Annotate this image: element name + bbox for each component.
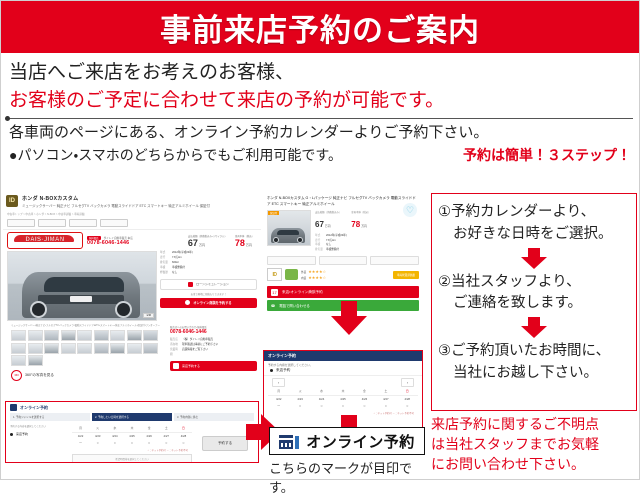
detail-chip-row[interactable] xyxy=(263,253,423,265)
lead-text-block: 当店へご来店をお考えのお客様、 お客様のご予定に合わせて来店の予約が可能です。 xyxy=(1,53,639,114)
car-body-shape xyxy=(22,272,140,318)
arrow-head xyxy=(521,257,547,269)
page-title: 事前来店予約のご案内 xyxy=(160,5,480,50)
calendar-icon xyxy=(173,363,179,369)
calendar-dow: 日 xyxy=(175,425,192,431)
contact-note-line-1: 来店予約に関するご不明点 xyxy=(431,415,637,435)
visit-online-reservation-label: 来店・オンライン商談予約 xyxy=(282,290,323,295)
car-window-shape xyxy=(44,277,124,292)
thumbnail[interactable] xyxy=(44,343,59,354)
detail-photo-tag: 保証付 xyxy=(268,211,279,215)
arrow-down-icon xyxy=(521,317,547,339)
car-wheel-left xyxy=(30,301,47,318)
radio-dot-icon xyxy=(10,433,13,436)
mock-car-listing-page[interactable]: ID ホンダ N-BOXカスタム ミュージックサーバー 純正ナビ フルセグTV … xyxy=(3,193,261,393)
price-total-row: 67万円 xyxy=(188,238,227,248)
arrow-shaft xyxy=(341,301,357,317)
listing-lower-left: ミュージックサーバー・純正ナビ・フルセグTV・バックカメラ・電動スライドドア・E… xyxy=(7,321,165,383)
thumbnail[interactable] xyxy=(11,330,26,341)
spec-key: 修復歴 xyxy=(160,271,169,276)
visit-online-reservation-button[interactable]: 17 来店・オンライン商談予約 xyxy=(267,286,419,298)
calculator-icon xyxy=(188,282,193,287)
heart-icon[interactable]: ♡ xyxy=(403,203,417,217)
detail-price-body-row: 78万円 xyxy=(351,214,370,232)
shop-sign xyxy=(295,436,299,449)
calendar-slot[interactable]: － xyxy=(72,440,89,447)
car-wheel-left xyxy=(273,237,279,243)
radio-dot-icon xyxy=(270,369,273,372)
calendar-dow: 水 xyxy=(311,388,332,394)
side-tel-number[interactable]: 0078-6046-1446 xyxy=(170,329,257,335)
step-2-line-2: ご連絡を致します。 xyxy=(438,293,630,315)
calendar-date: 4/24 xyxy=(106,432,123,439)
detail-price-body-unit: 万円 xyxy=(361,224,367,228)
calendar-date-row: 4/22 4/23 4/24 4/25 4/26 4/27 4/28 xyxy=(268,395,418,402)
id-badge-text: ID xyxy=(273,272,277,278)
detail-price-total-value: 67 xyxy=(315,220,324,229)
shop-row: 営業時間店舗情報をご覧下さい xyxy=(170,348,257,358)
calendar-dow: 月 xyxy=(72,425,89,431)
online-reservation-button[interactable]: オンライン予約 xyxy=(269,427,425,455)
wizard-steps[interactable]: 1. 予約ジャンルを選択する 2. 予約したい日時を選択する 3. 予約内容に進… xyxy=(6,413,258,421)
wizard-mark-row[interactable]: － ○ ○ ○ ○ ○ ○ xyxy=(72,440,192,447)
calendar-slot[interactable]: ○ xyxy=(175,440,192,447)
three-steps-tagline: 予約は簡単！３ステップ！ xyxy=(463,145,631,166)
chip-purchase-pack[interactable] xyxy=(370,256,419,265)
loan-simulation-label: ローンシミュレーション xyxy=(196,282,229,286)
calendar-slot[interactable]: － xyxy=(268,403,289,410)
lead-line-1: 当店へご来店をお考えのお客様、 xyxy=(9,59,631,87)
wizard-note: 予約する内容を選択してください xyxy=(10,424,68,428)
thumbnail[interactable] xyxy=(94,330,109,341)
green-badge-icon xyxy=(285,269,298,280)
online-reservation-caption: こちらのマークが目印です。 xyxy=(269,458,425,496)
step-3: ③ご予約頂いたお時間に、 当社にお越し下さい。 xyxy=(438,341,630,385)
breadcrumb[interactable]: 中古車トップ > 中古車 > ホンダ > N-BOX > 中古車詳細 > 車両詳… xyxy=(3,211,261,219)
arrow-head xyxy=(521,326,547,338)
step-1-line-1: ①予約カレンダーより、 xyxy=(438,204,595,220)
side-shop-info: 販売店（株）ダイレイ自動車販売 所在地現車確認は事前にご予約下さい 営業時間店舗… xyxy=(170,338,257,358)
wizard-time-select[interactable]: 希望時間帯を選択してください xyxy=(72,454,192,463)
rating-outside-stars: ★★★★☆ xyxy=(308,269,326,274)
lead-row-4: ●パソコン・スマホのどちらからでもご利用可能です。 予約は簡単！３ステップ！ xyxy=(1,145,639,166)
chip-coupon[interactable] xyxy=(319,256,368,265)
detail-price-total-row: 67万円 xyxy=(315,214,341,232)
rating-inside-label: 内装 xyxy=(301,277,306,280)
contact-note-line-2: は当社スタッフまでお気軽 xyxy=(431,435,637,455)
calendar-dow: 木 xyxy=(123,425,140,431)
rating-inside-stars: ★★★★☆ xyxy=(308,275,326,280)
detail-spec-row: 排気量車検整備付 xyxy=(315,248,419,253)
dealer-strip: DAIS-JIMAN 無料電話 ダイレイ自動車販売 本店 0078-6046-1… xyxy=(3,229,261,251)
detail-info: 支払総額（消費税込み） 67万円 車両本体（税込） 78万円 xyxy=(315,210,419,253)
car-plate-shape xyxy=(70,296,92,302)
calendar-dow: 水 xyxy=(106,425,123,431)
rating-stars-block: 外装★★★★☆ 内装★★★★☆ xyxy=(301,269,326,280)
lead-line-2: お客様のご予定に合わせて来店の予約が可能です。 xyxy=(9,87,631,115)
listing-main: 1/46 年式2012年(平成24年) 走行7.8万km 排気量660cc 車検… xyxy=(3,251,261,321)
thumbnail[interactable] xyxy=(143,343,158,354)
view-360-label: 360°の写真を見る xyxy=(25,373,54,378)
wizard-header: オンライン予約 xyxy=(6,402,258,413)
detail-specs: 年式2012年(平成24年) 走行7.8万km 車検なし 排気量車検整備付 xyxy=(315,234,419,253)
listing-side-panel: 販売店へのお問い合わせ・無料電話 0078-6046-1446 販売店（株）ダイ… xyxy=(168,321,257,383)
dealer-tel-number[interactable]: 0078-6046-1446 xyxy=(87,240,184,246)
calendar-dow: 月 xyxy=(268,388,289,394)
listing-title: ホンダ N-BOXカスタム xyxy=(22,195,258,202)
price-total-block: 支払総額（消費税込み・リサイクル） 67万円 xyxy=(188,234,227,248)
wizard-title: オンライン予約 xyxy=(20,405,48,411)
rating-outside-label: 外装 xyxy=(301,271,306,274)
listing-tabs[interactable] xyxy=(3,219,261,229)
calendar-bar-title: オンライン予約 xyxy=(264,351,422,361)
wizard-calendar[interactable]: 月 火 水 木 金 土 日 4/22 4/23 4/24 4/25 4/26 xyxy=(72,424,192,463)
detail-rating-row: ID 外装★★★★☆ 内装★★★★☆ 車両状態評価書 xyxy=(263,265,423,284)
shop-window xyxy=(281,443,284,447)
detail-summary-row: 保証付 支払総額（消費税込み） 67万円 xyxy=(263,210,423,253)
calendar-slot[interactable]: ○ xyxy=(141,440,158,447)
detail-spec-key: 排気量 xyxy=(315,248,323,253)
step-1: ①予約カレンダーより、 お好きな日時をご選択。 xyxy=(438,202,630,246)
calendar-slot[interactable]: ○ xyxy=(123,440,140,447)
thumbnail[interactable] xyxy=(28,343,43,354)
thumbnail[interactable] xyxy=(61,330,76,341)
car-body-shape xyxy=(271,228,305,243)
car-wheel-right xyxy=(115,301,132,318)
calendar-date: 4/28 xyxy=(397,395,418,402)
calendar-date: 4/26 xyxy=(141,432,158,439)
calendar-date: 4/26 xyxy=(354,395,375,402)
photo-counter: 1/46 xyxy=(143,313,154,318)
condition-report-button[interactable]: 車両状態評価書 xyxy=(393,271,419,279)
thumbnail[interactable] xyxy=(77,343,92,354)
wizard-submit-button[interactable]: 予約する xyxy=(202,436,248,451)
wizard-option-visit[interactable]: 来店予約 xyxy=(10,432,68,436)
calendar-date: 4/22 xyxy=(72,432,89,439)
thumbnail[interactable] xyxy=(61,343,76,354)
section-divider xyxy=(7,118,633,119)
view-360-link[interactable]: 360 360°の写真を見る xyxy=(7,368,165,383)
arrow-down-icon xyxy=(521,248,547,270)
calendar-dow: 日 xyxy=(397,388,418,394)
tab-photos[interactable] xyxy=(7,219,35,227)
shop-window xyxy=(285,443,288,447)
tab-equipment[interactable] xyxy=(69,219,97,227)
chip-warranty-pack[interactable] xyxy=(267,256,316,265)
page-header: 事前来店予約のご案内 xyxy=(1,1,639,53)
lead-line-3: 各車両のページにある、オンライン予約カレンダーよりご予約下さい。 xyxy=(1,122,639,145)
chevron-left-icon[interactable]: ‹ xyxy=(272,378,285,387)
calendar-date: 4/24 xyxy=(311,395,332,402)
calendar-date: 4/27 xyxy=(375,395,396,402)
detail-title: ホンダ N-BOXカスタム G・Lパッケージ 純正ナビ フルセグTV バックカメ… xyxy=(263,193,423,210)
thumbnail[interactable] xyxy=(28,355,43,366)
online-reservation-label: オンライン予約 xyxy=(306,431,415,452)
thumbnail[interactable] xyxy=(11,343,26,354)
calendar-dow: 土 xyxy=(158,425,175,431)
price-body-row: 78万円 xyxy=(235,238,254,248)
mock-reservation-wizard[interactable]: オンライン予約 1. 予約ジャンルを選択する 2. 予約したい日時を選択する 3… xyxy=(5,401,259,463)
wizard-legend: ○：ネット予約可 －：ネット予約不可 xyxy=(72,447,192,452)
wizard-step-3[interactable]: 3. 予約内容に進む xyxy=(174,413,254,421)
calendar-slot[interactable]: ○ xyxy=(289,403,310,410)
calendar-date: 4/25 xyxy=(123,432,140,439)
calendar-slot[interactable]: ○ xyxy=(158,440,175,447)
wizard-step-2[interactable]: 2. 予約したい日時を選択する xyxy=(92,413,172,421)
listing-header: ID ホンダ N-BOXカスタム ミュージックサーバー 純正ナビ フルセグTV … xyxy=(3,193,261,211)
wizard-step-1[interactable]: 1. 予約ジャンルを選択する xyxy=(10,413,90,421)
calendar-radio-label: 来店予約 xyxy=(276,368,290,373)
step-3-line-1: ③ご予約頂いたお時間に、 xyxy=(438,343,610,359)
rotate-360-icon: 360 xyxy=(11,370,22,381)
detail-vehicle-photo[interactable]: 保証付 xyxy=(267,210,311,246)
thumbnail[interactable] xyxy=(11,355,26,366)
calendar-widget[interactable]: ‹ › 月 火 水 木 金 土 日 4/22 4/23 4/24 4/25 xyxy=(264,375,422,417)
thumbnail[interactable] xyxy=(77,330,92,341)
calendar-dow: 火 xyxy=(89,425,106,431)
price-body-value: 78 xyxy=(235,238,245,248)
calendar-radio-visit[interactable]: 来店予約 xyxy=(264,368,422,375)
wizard-body: 予約する内容を選択してください 来店予約 月 火 水 木 金 土 日 xyxy=(6,421,258,463)
calendar-date: 4/28 xyxy=(175,432,192,439)
online-negotiation-button[interactable]: オンライン商談を予約する xyxy=(160,298,257,308)
thumbnail[interactable] xyxy=(127,330,142,341)
listing-lower: ミュージックサーバー・純正ナビ・フルセグTV・バックカメラ・電動スライドドア・E… xyxy=(3,321,261,383)
side-tel-block: 販売店へのお問い合わせ・無料電話 0078-6046-1446 xyxy=(170,325,257,335)
dealer-logo-text: DAIS-JIMAN xyxy=(25,237,64,243)
car-window-shape xyxy=(277,230,299,235)
dealer-logo: DAIS-JIMAN xyxy=(7,232,83,249)
id-badge-icon: ID xyxy=(267,268,282,281)
arrow-down-icon xyxy=(331,301,367,335)
price-total-unit: 万円 xyxy=(199,243,205,247)
rating-inside: 内装★★★★☆ xyxy=(301,275,326,281)
calendar-date: 4/23 xyxy=(89,432,106,439)
calendar-slot[interactable]: ○ xyxy=(375,403,396,410)
listing-title-block: ホンダ N-BOXカスタム ミュージックサーバー 純正ナビ フルセグTV バック… xyxy=(22,195,258,209)
calendar-date: 4/25 xyxy=(332,395,353,402)
detail-price-body: 車両本体（税込） 78万円 xyxy=(351,210,370,232)
wizard-left-col: 予約する内容を選択してください 来店予約 xyxy=(10,424,68,463)
thumbnail[interactable] xyxy=(28,330,43,341)
step-2: ②当社スタッフより、 ご連絡を致します。 xyxy=(438,272,630,316)
detail-spec-value: 車検整備付 xyxy=(326,248,339,253)
wizard-date-row: 4/22 4/23 4/24 4/25 4/26 4/27 4/28 xyxy=(72,432,192,439)
loan-note: お車で現地に見積もりできます！ xyxy=(160,292,257,296)
price-body-unit: 万円 xyxy=(246,243,252,247)
shop-window xyxy=(289,443,292,447)
calendar-date: 4/22 xyxy=(268,395,289,402)
shop-roof xyxy=(279,435,293,438)
listing-specs: 年式2012年(平成24年) 走行7.8万km 排気量660cc 車検車検整備付… xyxy=(160,251,257,321)
shop-value: 店舗情報をご覧下さい xyxy=(182,348,208,358)
advertisement-page: 事前来店予約のご案内 当店へご来店をお考えのお客様、 お客様のご予定に合わせて来… xyxy=(0,0,640,480)
wizard-dow-row: 月 火 水 木 金 土 日 xyxy=(72,425,192,431)
shop-building-icon xyxy=(279,434,299,449)
listing-description: ミュージックサーバー・純正ナビ・フルセグTV・バックカメラ・電動スライドドア・E… xyxy=(7,321,165,328)
loan-simulation-button[interactable]: ローンシミュレーション xyxy=(160,279,257,290)
listing-subtitle: ミュージックサーバー 純正ナビ フルセグTV バックカメラ 電動スライドドア E… xyxy=(22,204,258,209)
contact-note: 来店予約に関するご不明点 は当社スタッフまでお気軽 にお問い合わせ下さい。 xyxy=(431,415,637,475)
contact-note-line-3: にお問い合わせ下さい。 xyxy=(431,455,637,475)
detail-price-total: 支払総額（消費税込み） 67万円 xyxy=(315,210,341,232)
thumbnail[interactable] xyxy=(127,343,142,354)
thumbnail[interactable] xyxy=(143,330,158,341)
detail-price-body-value: 78 xyxy=(351,220,360,229)
calendar-slot[interactable]: ○ xyxy=(354,403,375,410)
phone-icon: ☎ xyxy=(271,304,275,308)
calendar-slot[interactable]: ○ xyxy=(311,403,332,410)
visit-reservation-label: 来店予約する xyxy=(182,364,200,368)
phone-inquiry-label: 電話で問い合わせる xyxy=(279,303,310,308)
calendar-dow: 金 xyxy=(141,425,158,431)
thumbnail[interactable] xyxy=(110,330,125,341)
video-call-icon xyxy=(185,300,190,305)
chevron-right-icon[interactable]: › xyxy=(401,378,414,387)
listing-prices: 支払総額（消費税込み・リサイクル） 67万円 車両本体（税込） 78万円 xyxy=(188,234,257,248)
wizard-option-label: 来店予約 xyxy=(16,432,28,436)
calendar-dow: 火 xyxy=(289,388,310,394)
id-badge-icon: ID xyxy=(6,195,18,207)
car-wheel-right xyxy=(297,237,303,243)
dealer-tel-block: 無料電話 ダイレイ自動車販売 本店 0078-6046-1446 xyxy=(87,236,184,246)
thumbnail[interactable] xyxy=(44,330,59,341)
photo-thumbnail-strip[interactable] xyxy=(7,328,165,368)
calendar-icon xyxy=(10,404,17,411)
calendar-dow-row: 月 火 水 木 金 土 日 xyxy=(268,388,418,394)
three-steps-panel: ①予約カレンダーより、 お好きな日時をご選択。 ②当社スタッフより、 ご連絡を致… xyxy=(431,193,637,411)
shop-key: 営業時間 xyxy=(170,348,179,358)
step-3-line-2: 当社にお越し下さい。 xyxy=(438,363,630,385)
calendar-slot[interactable]: ○ xyxy=(332,403,353,410)
spec-row: 修復歴なし xyxy=(160,271,257,276)
lead-line-4: ●パソコン・スマホのどちらからでもご利用可能です。 xyxy=(9,145,342,166)
thumbnail[interactable] xyxy=(94,343,109,354)
calendar-date: 4/27 xyxy=(158,432,175,439)
vehicle-photo[interactable]: 1/46 xyxy=(7,251,157,321)
online-negotiation-label: オンライン商談を予約する xyxy=(193,300,231,305)
arrow-head xyxy=(331,316,367,335)
arrow-shaft xyxy=(246,424,262,440)
calendar-slot[interactable]: ○ xyxy=(397,403,418,410)
thumbnail[interactable] xyxy=(110,343,125,354)
step-1-line-2: お好きな日時をご選択。 xyxy=(438,224,630,246)
online-reservation-mark: オンライン予約 こちらのマークが目印です。 xyxy=(269,427,425,496)
detail-price-total-unit: 万円 xyxy=(325,224,331,228)
price-total-value: 67 xyxy=(188,238,198,248)
tab-shop[interactable] xyxy=(100,219,128,227)
calendar-slot[interactable]: ○ xyxy=(106,440,123,447)
calendar-subtitle: 予約する内容を選択してください。 xyxy=(264,361,422,368)
spec-value: なし xyxy=(172,271,177,276)
step-2-line-1: ②当社スタッフより、 xyxy=(438,274,581,290)
calendar-dow: 木 xyxy=(332,388,353,394)
calendar-icon: 17 xyxy=(271,289,278,296)
calendar-slot[interactable]: ○ xyxy=(89,440,106,447)
visit-reservation-button[interactable]: 来店予約する xyxy=(170,361,257,371)
price-body-block: 車両本体（税込） 78万円 xyxy=(235,234,254,248)
tab-specs[interactable] xyxy=(38,219,66,227)
calendar-dow: 金 xyxy=(354,388,375,394)
calendar-dow: 土 xyxy=(375,388,396,394)
calendar-date: 4/23 xyxy=(289,395,310,402)
calendar-mark-row[interactable]: － ○ ○ ○ ○ ○ ○ xyxy=(268,403,418,410)
calendar-nav[interactable]: ‹ › xyxy=(268,378,418,387)
